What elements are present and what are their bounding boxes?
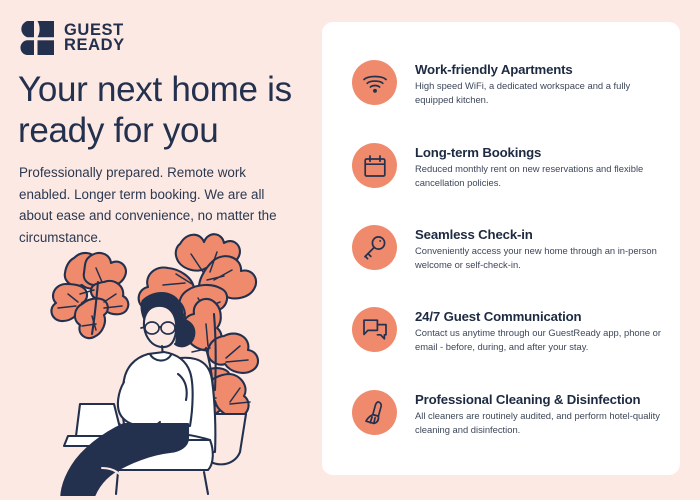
hero-illustration: [28, 228, 314, 496]
feature-text: Seamless Check-in Conveniently access yo…: [415, 225, 664, 272]
feature-description: All cleaners are routinely audited, and …: [415, 409, 664, 437]
feature-text: Professional Cleaning & Disinfection All…: [415, 390, 664, 437]
feature-title: 24/7 Guest Communication: [415, 309, 581, 324]
broom-icon: [352, 390, 397, 435]
features-card: Work-friendly Apartments High speed WiFi…: [322, 22, 680, 475]
chat-bubbles-icon: [352, 307, 397, 352]
feature-item-seamless-check-in[interactable]: Seamless Check-in Conveniently access yo…: [352, 225, 664, 272]
feature-list: Work-friendly Apartments High speed WiFi…: [322, 22, 680, 475]
brand-wordmark: GUEST READY: [64, 23, 125, 54]
feature-item-long-term-bookings[interactable]: Long-term Bookings Reduced monthly rent …: [352, 143, 664, 190]
hero-headline: Your next home is ready for you: [18, 70, 308, 152]
feature-title: Seamless Check-in: [415, 227, 533, 242]
feature-title: Work-friendly Apartments: [415, 62, 573, 77]
feature-text: Work-friendly Apartments High speed WiFi…: [415, 60, 664, 107]
feature-text: 24/7 Guest Communication Contact us anyt…: [415, 307, 664, 354]
feature-item-work-friendly-apartments[interactable]: Work-friendly Apartments High speed WiFi…: [352, 60, 664, 107]
brand-logo[interactable]: GUEST READY: [17, 20, 125, 56]
feature-title: Professional Cleaning & Disinfection: [415, 392, 640, 407]
feature-description: Contact us anytime through our GuestRead…: [415, 326, 664, 354]
feature-description: High speed WiFi, a dedicated workspace a…: [415, 79, 664, 107]
guestready-quadrant-logo-icon: [17, 20, 55, 56]
feature-description: Conveniently access your new home throug…: [415, 244, 664, 272]
wifi-icon: [352, 60, 397, 105]
brand-wordmark-line2: READY: [64, 38, 125, 54]
calendar-icon: [352, 143, 397, 188]
feature-description: Reduced monthly rent on new reservations…: [415, 162, 664, 190]
feature-text: Long-term Bookings Reduced monthly rent …: [415, 143, 664, 190]
hero-column: GUEST READY Your next home is ready for …: [0, 0, 312, 500]
key-icon: [352, 225, 397, 270]
feature-item-guest-communication[interactable]: 24/7 Guest Communication Contact us anyt…: [352, 307, 664, 354]
page-root: GUEST READY Your next home is ready for …: [0, 0, 700, 500]
feature-title: Long-term Bookings: [415, 145, 541, 160]
feature-item-cleaning-disinfection[interactable]: Professional Cleaning & Disinfection All…: [352, 390, 664, 437]
